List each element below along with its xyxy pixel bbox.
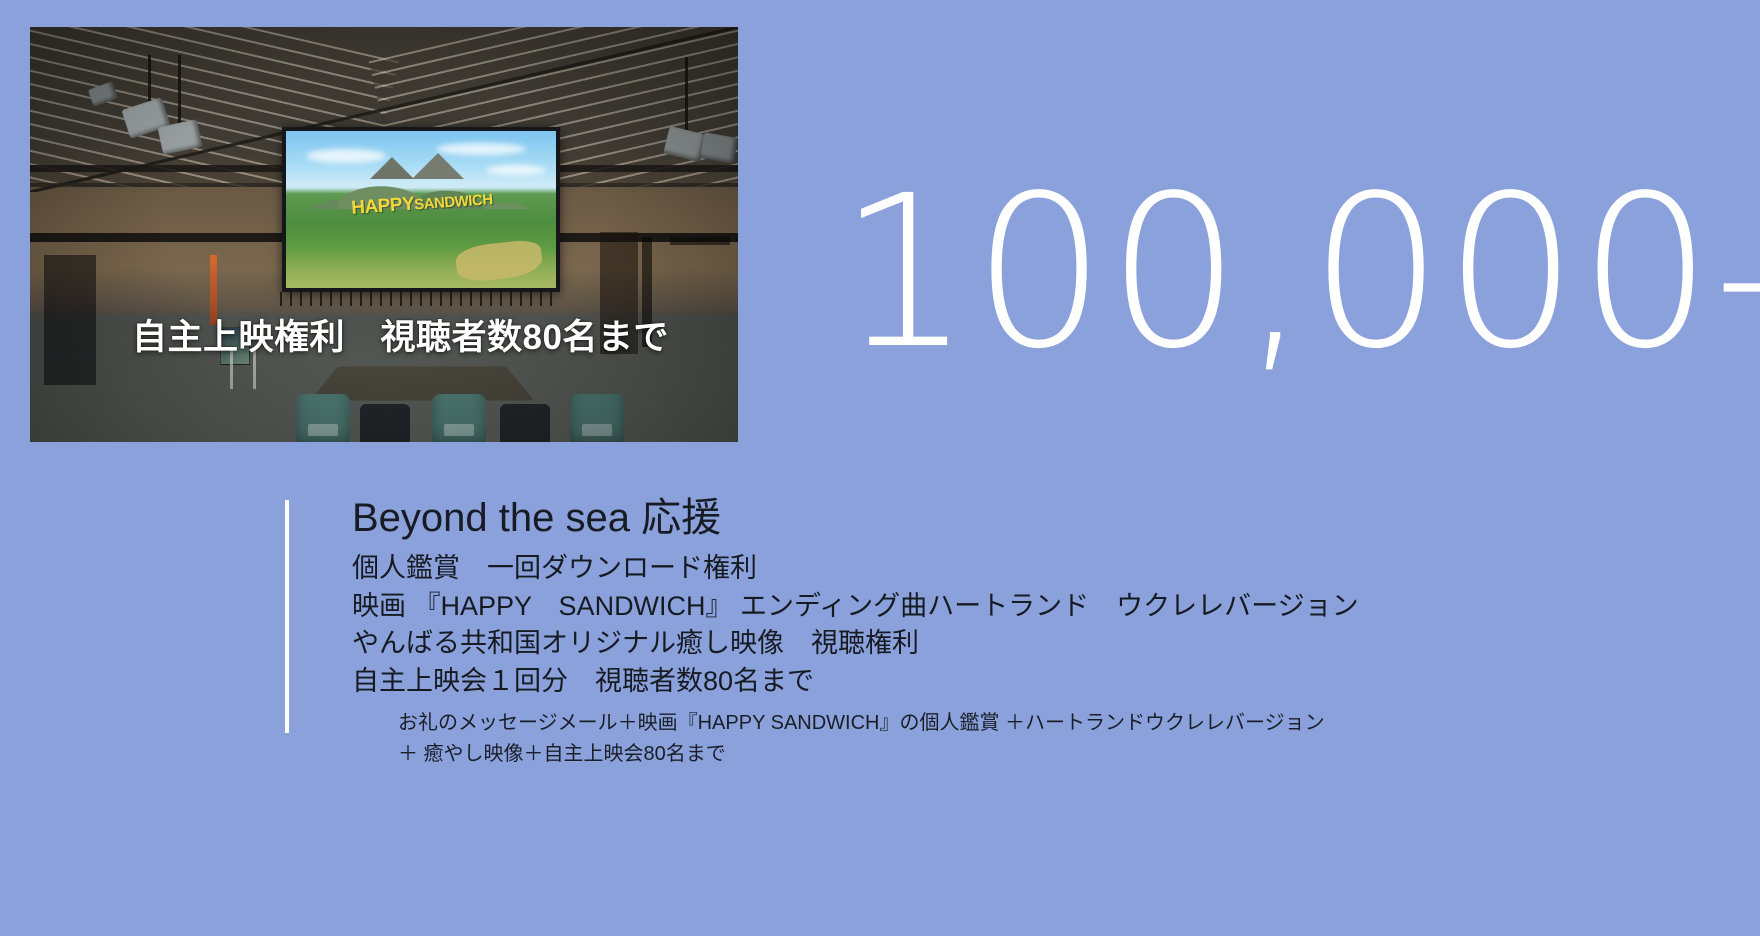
light-rod-2: [178, 55, 181, 127]
reward-description: Beyond the sea 応援 個人鑑賞 一回ダウンロード権利 映画 『HA…: [352, 492, 1532, 700]
rock-peak-1: [370, 157, 414, 179]
reward-line-1: 個人鑑賞 一回ダウンロード権利: [352, 550, 1532, 588]
rock-peak-2: [412, 153, 464, 179]
wall-panel-left: [44, 255, 96, 385]
projected-image: HAPPYSANDWICH: [286, 131, 556, 288]
reward-line-4: 自主上映会１回分 視聴者数80名まで: [352, 663, 1532, 701]
light-rod-3: [685, 57, 688, 133]
wall-shelf: [670, 237, 730, 245]
folding-chair-2: [432, 394, 486, 442]
reward-headline: Beyond the sea 応援: [352, 492, 1532, 544]
film-title-sub: SANDWICH: [414, 191, 493, 213]
reward-fine-print: お礼のメッセージメール＋映画『HAPPY SANDWICH』の個人鑑賞 ＋ハート…: [398, 708, 1408, 770]
light-rod-1: [148, 55, 151, 107]
projection-screen: HAPPYSANDWICH: [282, 127, 560, 292]
wall-slats: [280, 292, 560, 306]
fine-print-line-1: お礼のメッセージメール＋映画『HAPPY SANDWICH』の個人鑑賞 ＋ハート…: [398, 708, 1408, 739]
price-amount: 100,000-: [838, 168, 1578, 378]
accent-bar: [285, 500, 289, 733]
film-title-main: HAPPY: [351, 194, 415, 219]
field-clearing: [454, 239, 543, 284]
reward-line-2: 映画 『HAPPY SANDWICH』 エンディング曲ハートランド ウクレレバー…: [352, 588, 1532, 626]
venue-photo: HAPPYSANDWICH 自主上映権利 視聴者数80名まで: [30, 27, 738, 442]
presentation-slide: HAPPYSANDWICH 自主上映権利 視聴者数80名まで 100,000- …: [0, 0, 1760, 936]
folding-chair-1: [296, 394, 350, 442]
stage-light-icon-5: [700, 132, 738, 164]
fine-print-line-2: ＋ 癒やし映像＋自主上映会80名まで: [398, 739, 1408, 770]
photo-caption: 自主上映権利 視聴者数80名まで: [132, 309, 669, 360]
folding-chair-3: [570, 394, 624, 442]
folding-chair-dark-1: [360, 404, 410, 442]
folding-chair-dark-2: [500, 404, 550, 442]
reward-line-3: やんばる共和国オリジナル癒し映像 視聴権利: [352, 625, 1532, 663]
